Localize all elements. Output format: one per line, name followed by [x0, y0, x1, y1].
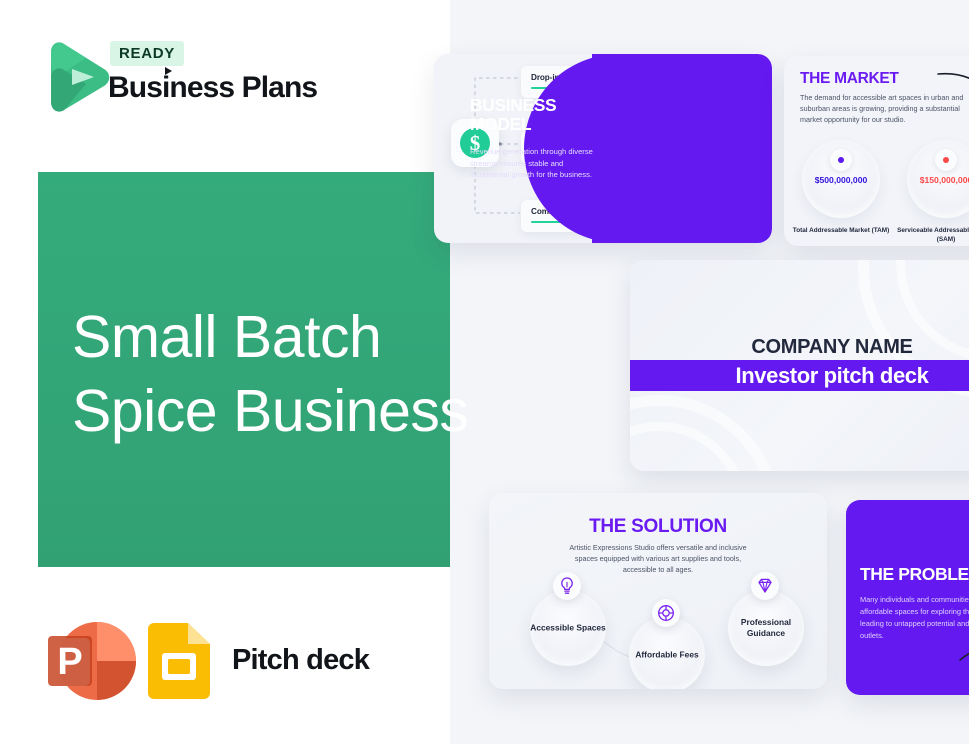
node-label: Professional Guidance — [728, 617, 804, 639]
brand-name: Business Plans — [108, 71, 317, 105]
page-title: Small Batch Spice Business — [72, 300, 542, 448]
company-name: COMPANY NAME — [630, 336, 969, 359]
investor-pitch-deck-label: Investor pitch deck — [630, 360, 969, 391]
target-badge — [652, 599, 680, 627]
slide-heading: THE MARKET — [800, 70, 899, 88]
metric-value: $150,000,000 — [907, 175, 969, 185]
format-badges: P Pitch deck — [40, 613, 369, 708]
hero-line-2: Spice Business — [72, 374, 542, 448]
slide-solution[interactable]: THE SOLUTION Artistic Expressions Studio… — [489, 493, 827, 689]
lightbulb-badge — [553, 572, 581, 600]
brand-name-text: Business Plans — [108, 71, 317, 104]
solution-node: Accessible Spaces — [530, 590, 606, 666]
lightbulb-icon — [553, 572, 581, 600]
solution-node: Affordable Fees — [629, 617, 705, 689]
google-slides-icon — [148, 623, 210, 699]
ready-badge: READY — [110, 41, 184, 66]
curved-arrow-icon — [956, 640, 969, 670]
metric-dot-badge — [935, 149, 957, 171]
slide-market[interactable]: THE MARKET The demand for accessible art… — [784, 56, 969, 246]
poster-canvas: Small Batch Spice Business READY Busines… — [0, 0, 969, 744]
market-metric-tam: $500,000,000 — [802, 140, 880, 218]
slide-body: Many individuals and communities lack ac… — [860, 594, 969, 642]
diamond-badge — [751, 572, 779, 600]
powerpoint-icon: P — [40, 614, 136, 708]
slide-problem[interactable]: THE PROBLEM Many individuals and communi… — [846, 500, 969, 695]
node-label: Accessible Spaces — [530, 623, 606, 634]
formats-label: Pitch deck — [232, 644, 369, 677]
dot-icon — [838, 157, 844, 163]
slide-company-title[interactable]: COMPANY NAME Investor pitch deck — [630, 260, 969, 471]
target-icon — [652, 599, 680, 627]
brand-logo[interactable]: READY Business Plans — [42, 33, 382, 123]
play-accent-icon — [165, 67, 172, 75]
metric-value: $500,000,000 — [802, 175, 880, 185]
investor-pitch-deck-bar: Investor pitch deck — [630, 360, 969, 391]
business-model-accent-shape — [592, 54, 772, 243]
node-label: Affordable Fees — [629, 650, 705, 661]
metric-dot-badge — [830, 149, 852, 171]
slide-heading: BUSINESS MODEL — [470, 96, 610, 134]
slide-business-model[interactable]: $ Drop-in Fees Session Workshops Commiss… — [434, 54, 772, 243]
metric-caption: Total Addressable Market (TAM) — [786, 226, 896, 235]
hero-line-1: Small Batch — [72, 304, 381, 370]
play-triangle-logo-icon — [42, 38, 112, 116]
slide-body: Revenue generation through diverse strea… — [470, 146, 600, 181]
slide-heading: THE PROBLEM — [860, 564, 969, 585]
metric-caption: Serviceable Addressable Market (SAM) — [891, 226, 969, 244]
curved-arrow-icon — [936, 68, 969, 108]
diamond-icon — [751, 572, 779, 600]
solution-node: Professional Guidance — [728, 590, 804, 666]
dot-icon — [943, 157, 949, 163]
market-metric-sam: $150,000,000 — [907, 140, 969, 218]
svg-text:P: P — [57, 641, 82, 683]
